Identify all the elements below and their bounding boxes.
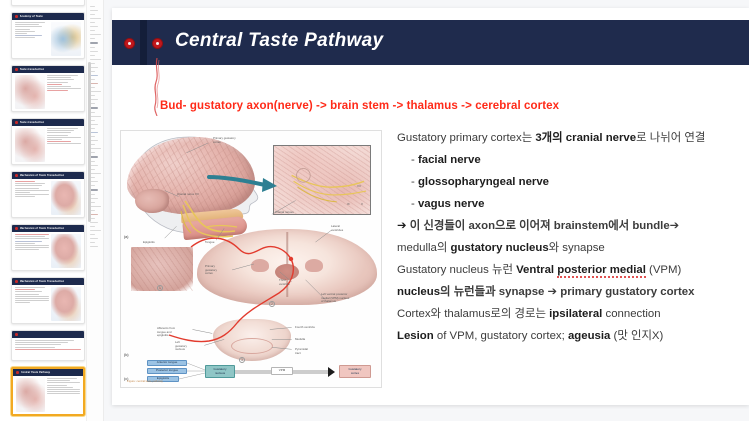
- body-line-6: medulla의 gustatory nucleus와 synapse: [397, 243, 745, 254]
- body-text-run: (VPM): [646, 264, 681, 276]
- figure-leader-lines: [121, 131, 381, 387]
- page-title: Central Taste Pathway: [175, 30, 383, 52]
- slide-stage: Central Taste Pathway Bud- gustatory axo…: [104, 0, 749, 421]
- thumb-figure: [51, 22, 81, 56]
- thumb-figure: [51, 234, 81, 268]
- red-dot-marker-2-icon: [152, 38, 163, 49]
- body-text-run: (맛 인지X): [610, 330, 663, 342]
- thumb-title: Mechanism of Taste Transduction: [20, 280, 65, 283]
- body-text-emphasis: ➔: [397, 220, 410, 232]
- thumb-title: Taste transduction: [20, 68, 45, 71]
- body-text-run: 의 뉴런들과 synapse ➔ primary gustatory corte…: [440, 286, 694, 298]
- body-text-run: of VPM, gustatory cortex;: [434, 330, 568, 342]
- red-dot-icon: [15, 280, 18, 283]
- thumb-title-bar: Taste transduction: [12, 66, 84, 73]
- current-slide: Central Taste Pathway Bud- gustatory axo…: [112, 8, 749, 405]
- red-dot-icon: [15, 121, 18, 124]
- body-line-1: Gustatory primary cortex는 3개의 cranial ne…: [397, 133, 745, 144]
- notes-pane-strip: [112, 409, 749, 421]
- thumb-figure: [51, 287, 81, 321]
- figure-label: Left ventral posterior medial (VPM) nucl…: [321, 293, 349, 304]
- body-text-run: Gustatory primary cortex는: [397, 132, 535, 144]
- body-text-run: medulla의: [397, 242, 451, 254]
- thumb-title: Mechanism of Taste Transduction: [20, 174, 65, 177]
- body-text-emphasis: posterior medial: [557, 264, 646, 278]
- title-accent-band: [140, 20, 147, 65]
- slide-thumbnail-5[interactable]: Taste transduction: [11, 118, 85, 165]
- body-line-2: - facial nerve: [397, 155, 745, 166]
- minimap-scrollbar[interactable]: [88, 62, 91, 222]
- red-dot-marker-1-icon: [124, 38, 135, 49]
- body-text-emphasis: ipsilateral: [549, 308, 602, 320]
- taste-flow-diagram: Anterior tongue Posterior tongue Epiglot…: [125, 359, 379, 385]
- slide-body-text: Gustatory primary cortex는 3개의 cranial ne…: [397, 133, 745, 353]
- thumb-title-bar: Central Taste Pathway: [13, 369, 83, 376]
- slide-thumbnail-7[interactable]: Mechanism of Taste Transduction: [11, 224, 85, 271]
- thumb-title-bar: Anatomy of Taste: [12, 13, 84, 20]
- slide-thumbnail-6[interactable]: Mechanism of Taste Transduction: [11, 171, 85, 218]
- figure-callout-1: 1: [157, 285, 163, 291]
- figure-source-caption: Figure: central taste pathway: [127, 379, 163, 383]
- body-text-run: -: [411, 176, 418, 188]
- thumb-title-bar: [12, 331, 84, 338]
- flow-connector-lines: [125, 359, 379, 385]
- body-text-emphasis: ageusia: [568, 330, 610, 342]
- figure-callout-2: 2: [269, 301, 275, 307]
- figure-label: VII: [357, 185, 361, 189]
- slide-thumbnail-rail[interactable]: Anatomy of Taste Taste transduction: [0, 0, 86, 421]
- figure-label: Primary gustatory cortex: [205, 265, 217, 276]
- body-text-run: Gustatory nucleus 뉴런: [397, 264, 516, 276]
- thumb-title-bar: Mechanism of Taste Transduction: [12, 225, 84, 232]
- body-text-emphasis: vagus nerve: [418, 198, 484, 210]
- body-text-emphasis: 3개의 cranial nerve: [535, 132, 636, 144]
- thumb-title: Central Taste Pathway: [21, 371, 51, 374]
- thumb-figure: [51, 181, 81, 215]
- body-line-4: - vagus nerve: [397, 199, 745, 210]
- body-text-run: 로 나뉘어 연결: [636, 132, 705, 144]
- body-text-run: 와 synapse: [549, 242, 605, 254]
- thumb-title: Mechanism of Taste Transduction: [20, 227, 65, 230]
- figure-label: Cranial nerves: [275, 211, 294, 215]
- figure-label: Primary gustatory cortex: [213, 137, 236, 144]
- figure-label: X: [361, 203, 363, 207]
- thumb-title-bar: Mechanism of Taste Transduction: [12, 172, 84, 179]
- red-dot-icon: [15, 15, 18, 18]
- body-text-emphasis: gustatory nucleus: [451, 242, 549, 254]
- red-dot-icon: [16, 371, 19, 374]
- thumb-figure: [15, 75, 45, 109]
- thumb-title: Anatomy of Taste: [20, 15, 43, 18]
- body-text-run: -: [411, 198, 418, 210]
- figure-label: Fourth ventricle: [295, 326, 315, 330]
- slide-thumbnail-3[interactable]: Anatomy of Taste: [11, 12, 85, 59]
- thumb-title-bar: Mechanism of Taste Transduction: [12, 278, 84, 285]
- red-dot-icon: [15, 174, 18, 177]
- body-text-emphasis: glossopharyngeal nerve: [418, 176, 549, 188]
- slide-thumbnail-4[interactable]: Taste transduction: [11, 65, 85, 112]
- figure-label: Epiglottis: [143, 241, 155, 245]
- red-dot-icon: [15, 68, 18, 71]
- body-line-8: nucleus의 뉴런들과 synapse ➔ primary gustator…: [397, 287, 745, 298]
- figure-label: Lateral ventricles: [331, 225, 343, 232]
- document-outline-minimap[interactable]: [86, 0, 104, 421]
- red-dot-icon: [15, 227, 18, 230]
- figure-label: Cranial nerve VII: [177, 193, 199, 197]
- figure-label: Pyramidal tract: [295, 348, 308, 355]
- body-text-emphasis: Lesion: [397, 330, 434, 342]
- figure-label: Left gustatory nucleus: [175, 341, 187, 352]
- figure-label: Afferents from tongue and epiglottis: [157, 327, 175, 338]
- figure-label: Tongue: [205, 241, 214, 245]
- slide-thumbnail-9[interactable]: [11, 330, 85, 361]
- body-text-emphasis: facial nerve: [418, 154, 481, 166]
- body-text-run: Cortex와 thalamus로의 경로는: [397, 308, 549, 320]
- figure-panel-tag-b: (b): [124, 353, 129, 357]
- body-text-emphasis: nucleus: [397, 286, 440, 298]
- body-text-run: 이 신경들이 axon으로 이어져 brainstem에서 bundle➔: [410, 220, 679, 232]
- body-line-5: ➔ 이 신경들이 axon으로 이어져 brainstem에서 bundle➔: [397, 221, 745, 232]
- body-text-run: connection: [602, 308, 660, 320]
- body-text-run: -: [411, 154, 418, 166]
- thumb-title: Taste transduction: [20, 121, 45, 124]
- slide-thumbnail[interactable]: [11, 0, 85, 6]
- thumb-figure: [16, 378, 45, 412]
- figure-label: Medulla: [295, 338, 305, 342]
- red-dot-icon: [15, 333, 18, 336]
- body-line-10: Lesion of VPM, gustatory cortex; ageusia…: [397, 331, 745, 342]
- presentation-viewer: Anatomy of Taste Taste transduction: [0, 0, 749, 421]
- slide-thumbnail-8[interactable]: Mechanism of Taste Transduction: [11, 277, 85, 324]
- figure-label: IX: [347, 203, 350, 207]
- body-line-9: Cortex와 thalamus로의 경로는 ipsilateral conne…: [397, 309, 745, 320]
- figure-panel-tag-a: (a): [124, 235, 128, 239]
- body-line-3: - glossopharyngeal nerve: [397, 177, 745, 188]
- slide-title-bar: Central Taste Pathway: [112, 20, 749, 65]
- thumb-title-bar: Taste transduction: [12, 119, 84, 126]
- body-line-7: Gustatory nucleus 뉴런 Ventral posterior m…: [397, 265, 745, 276]
- anatomy-figure: Primary gustatory cortex Cranial nerve V…: [120, 130, 382, 388]
- thumb-figure: [15, 128, 45, 162]
- figure-label: Third ventricle: [279, 279, 290, 286]
- body-text-emphasis: Ventral: [516, 264, 557, 276]
- slide-thumbnail-10-selected[interactable]: Central Taste Pathway: [11, 367, 85, 416]
- red-annotation-text: Bud- gustatory axon(nerve) -> brain stem…: [160, 100, 559, 112]
